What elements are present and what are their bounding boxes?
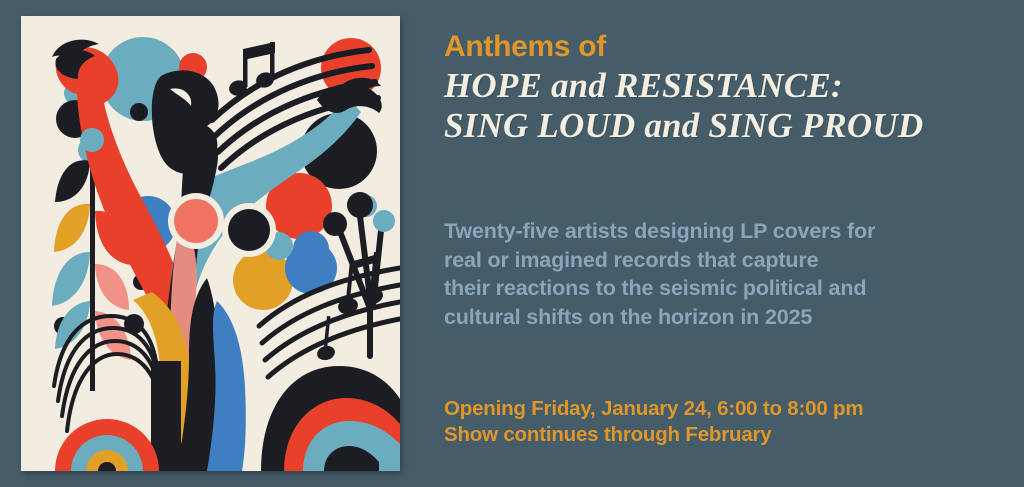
title-block: Anthems of HOPE and RESISTANCE: SING LOU… <box>444 30 1004 146</box>
stem-head-teal <box>373 210 395 232</box>
record-ring-black <box>222 203 276 257</box>
stem-head-black-b <box>323 212 347 236</box>
artwork-frame <box>21 16 400 471</box>
stem-head-black-a <box>347 192 373 218</box>
title-line-2: SING LOUD and SING PROUD <box>444 106 1004 146</box>
decor-circle-blue-bottom-mid <box>293 231 329 267</box>
artwork-panel <box>0 0 420 487</box>
exhibition-poster: Anthems of HOPE and RESISTANCE: SING LOU… <box>0 0 1024 487</box>
description-line-1: Twenty-five artists designing LP covers … <box>444 217 1009 246</box>
abstract-music-illustration <box>21 16 400 471</box>
description-line-4: cultural shifts on the horizon in 2025 <box>444 303 1009 332</box>
plant-node-teal <box>80 128 104 152</box>
decor-circle-black-mid <box>130 103 148 121</box>
description-block: Twenty-five artists designing LP covers … <box>444 217 1009 331</box>
event-duration-line: Show continues through February <box>444 422 984 448</box>
title-kicker: Anthems of <box>444 30 1004 64</box>
description-line-3: their reactions to the seismic political… <box>444 274 1009 303</box>
description-line-2: real or imagined records that capture <box>444 246 1009 275</box>
event-opening-line: Opening Friday, January 24, 6:00 to 8:00… <box>444 396 984 422</box>
text-column: Anthems of HOPE and RESISTANCE: SING LOU… <box>420 0 1024 487</box>
event-details-block: Opening Friday, January 24, 6:00 to 8:00… <box>444 396 984 448</box>
title-line-1: HOPE and RESISTANCE: <box>444 66 1004 106</box>
record-ring-salmon <box>168 193 224 249</box>
